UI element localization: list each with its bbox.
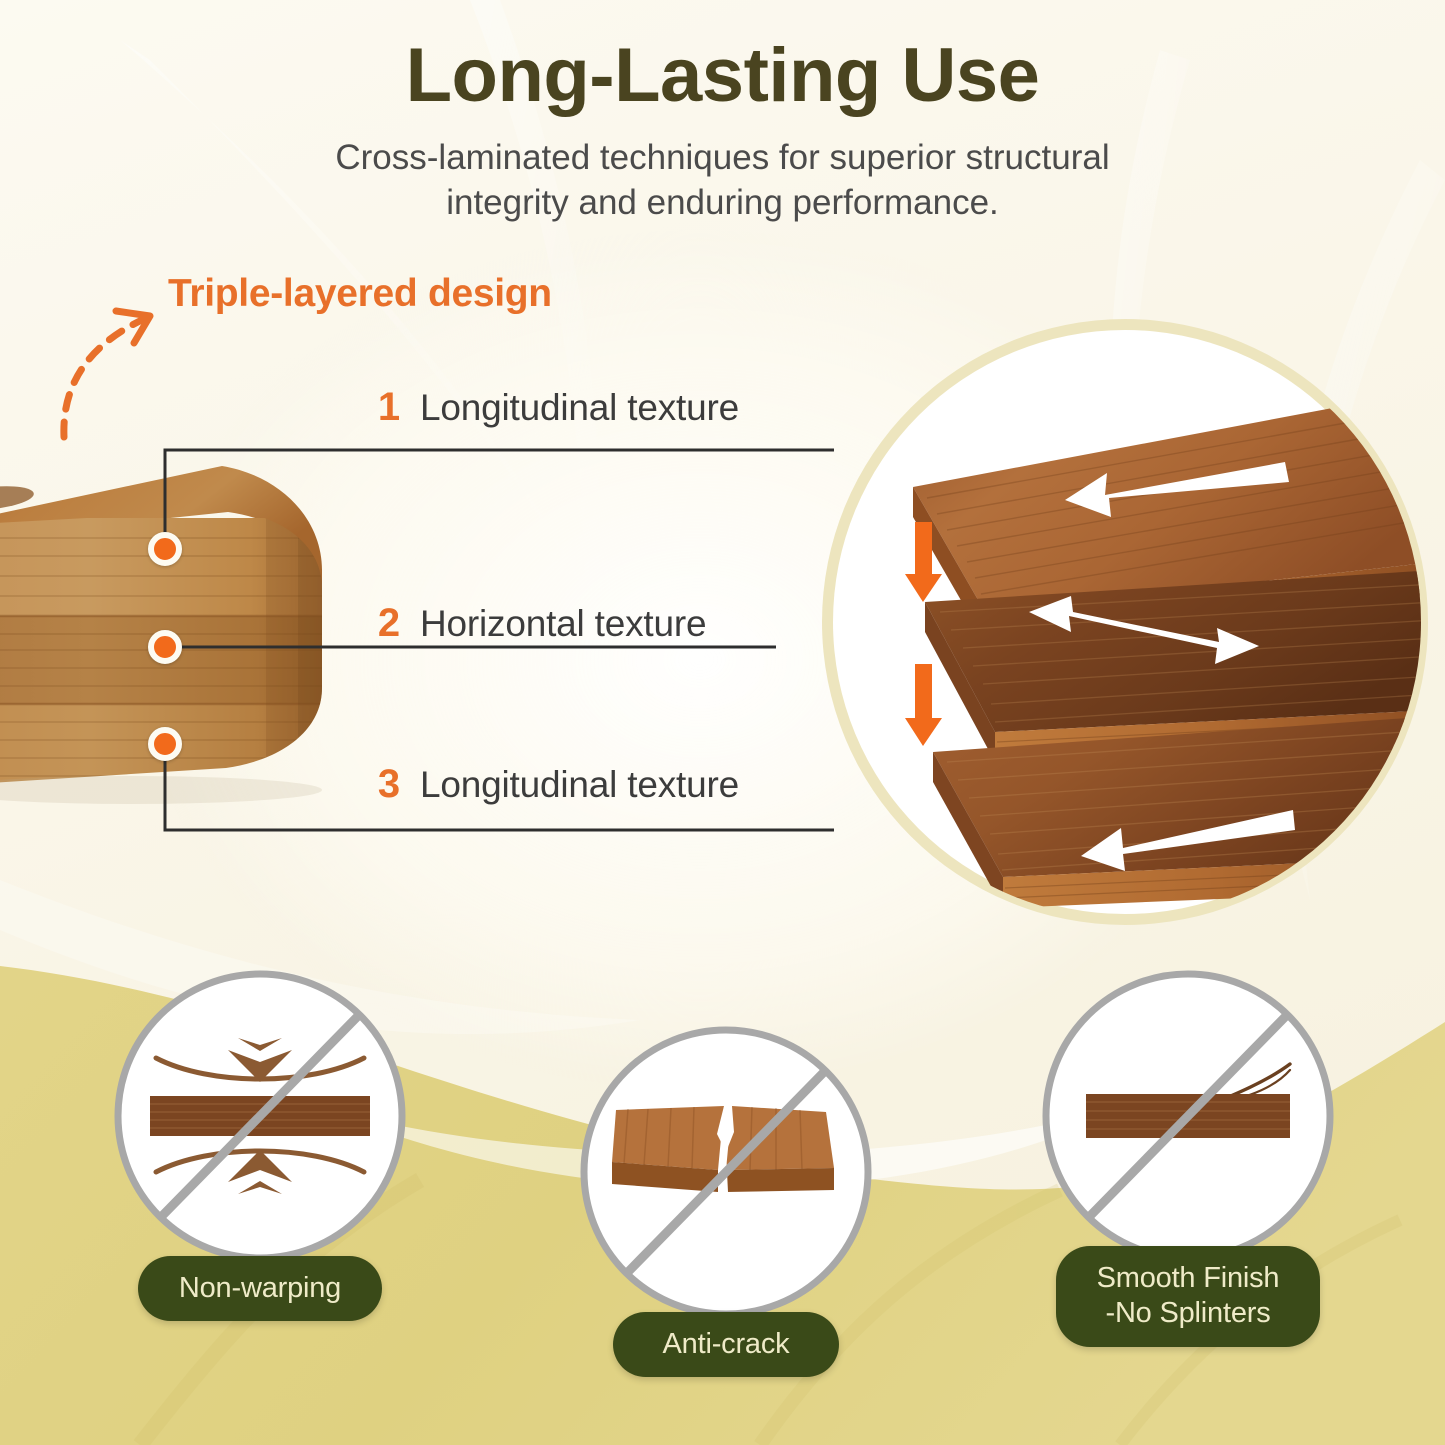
curved-dashed-arrow-icon — [40, 285, 180, 445]
no-splinters-icon — [1038, 966, 1338, 1266]
callout-2-label: Horizontal texture — [420, 603, 706, 645]
callout-3-number: 3 — [376, 762, 402, 807]
badge-non-warping-label: Non-warping — [138, 1256, 382, 1321]
page-subtitle: Cross-laminated techniques for superior … — [0, 136, 1445, 226]
callout-2-number: 2 — [376, 601, 402, 646]
badge-non-warping[interactable]: Non-warping — [110, 966, 410, 1271]
subtitle-line-2: integrity and enduring performance. — [0, 181, 1445, 226]
no-warping-icon — [110, 966, 410, 1266]
callout-1-label: Longitudinal texture — [420, 387, 739, 429]
layer-marker-dot-2[interactable] — [148, 630, 182, 664]
callout-3: 3 Longitudinal texture — [376, 762, 739, 807]
callout-1-number: 1 — [376, 385, 402, 430]
subtitle-line-1: Cross-laminated techniques for superior … — [0, 136, 1445, 181]
triple-layered-design-heading: Triple-layered design — [168, 272, 552, 316]
layer-marker-dot-3[interactable] — [148, 727, 182, 761]
callout-1: 1 Longitudinal texture — [376, 385, 739, 430]
page-title: Long-Lasting Use — [0, 36, 1445, 116]
callout-3-label: Longitudinal texture — [420, 764, 739, 806]
cross-laminated-layers-diagram — [815, 312, 1435, 932]
badge-smooth-finish[interactable]: Smooth Finish -No Splinters — [1038, 966, 1338, 1271]
layer-marker-dot-1[interactable] — [148, 532, 182, 566]
callout-2: 2 Horizontal texture — [376, 601, 706, 646]
no-crack-icon — [576, 1022, 876, 1322]
badge-anti-crack[interactable]: Anti-crack — [576, 1022, 876, 1327]
header: Long-Lasting Use Cross-laminated techniq… — [0, 0, 1445, 225]
badge-smooth-finish-label: Smooth Finish -No Splinters — [1056, 1246, 1320, 1347]
badge-anti-crack-label: Anti-crack — [613, 1312, 839, 1377]
